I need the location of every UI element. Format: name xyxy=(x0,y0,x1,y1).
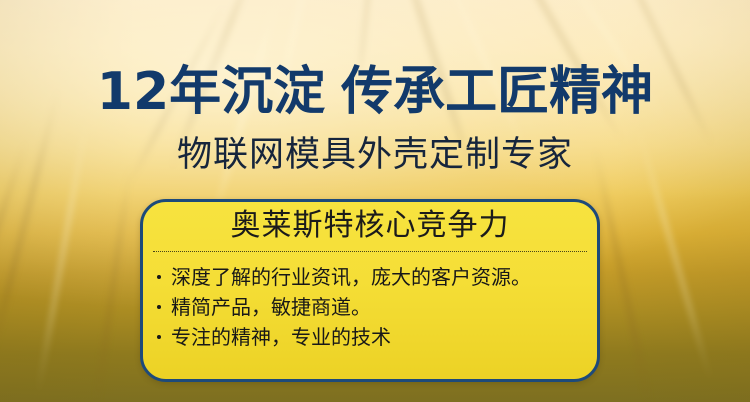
card-divider xyxy=(153,251,587,252)
bullet-dot-icon xyxy=(157,335,161,339)
list-item-label: 专注的精神，专业的技术 xyxy=(171,325,391,349)
list-item-label: 深度了解的行业资讯，庞大的客户资源。 xyxy=(171,265,531,289)
bullet-dot-icon xyxy=(157,275,161,279)
page-subtitle: 物联网模具外壳定制专家 xyxy=(0,138,750,173)
list-item: 专注的精神，专业的技术 xyxy=(171,322,597,352)
card-title: 奥莱斯特核心竞争力 xyxy=(143,211,597,241)
headline-lead: 12年沉淀 xyxy=(97,62,325,122)
list-item-label: 精简产品，敏捷商道。 xyxy=(171,295,371,319)
promo-banner: 12年沉淀传承工匠精神 物联网模具外壳定制专家 奥莱斯特核心竞争力 深度了解的行… xyxy=(0,0,750,402)
bullet-dot-icon xyxy=(157,305,161,309)
headline-tail: 传承工匠精神 xyxy=(341,62,653,122)
list-item: 深度了解的行业资讯，庞大的客户资源。 xyxy=(171,262,597,292)
page-title: 12年沉淀传承工匠精神 xyxy=(0,66,750,118)
list-item: 精简产品，敏捷商道。 xyxy=(171,292,597,322)
competency-list: 深度了解的行业资讯，庞大的客户资源。 精简产品，敏捷商道。 专注的精神，专业的技… xyxy=(143,262,597,352)
core-competency-card: 奥莱斯特核心竞争力 深度了解的行业资讯，庞大的客户资源。 精简产品，敏捷商道。 … xyxy=(140,199,600,382)
